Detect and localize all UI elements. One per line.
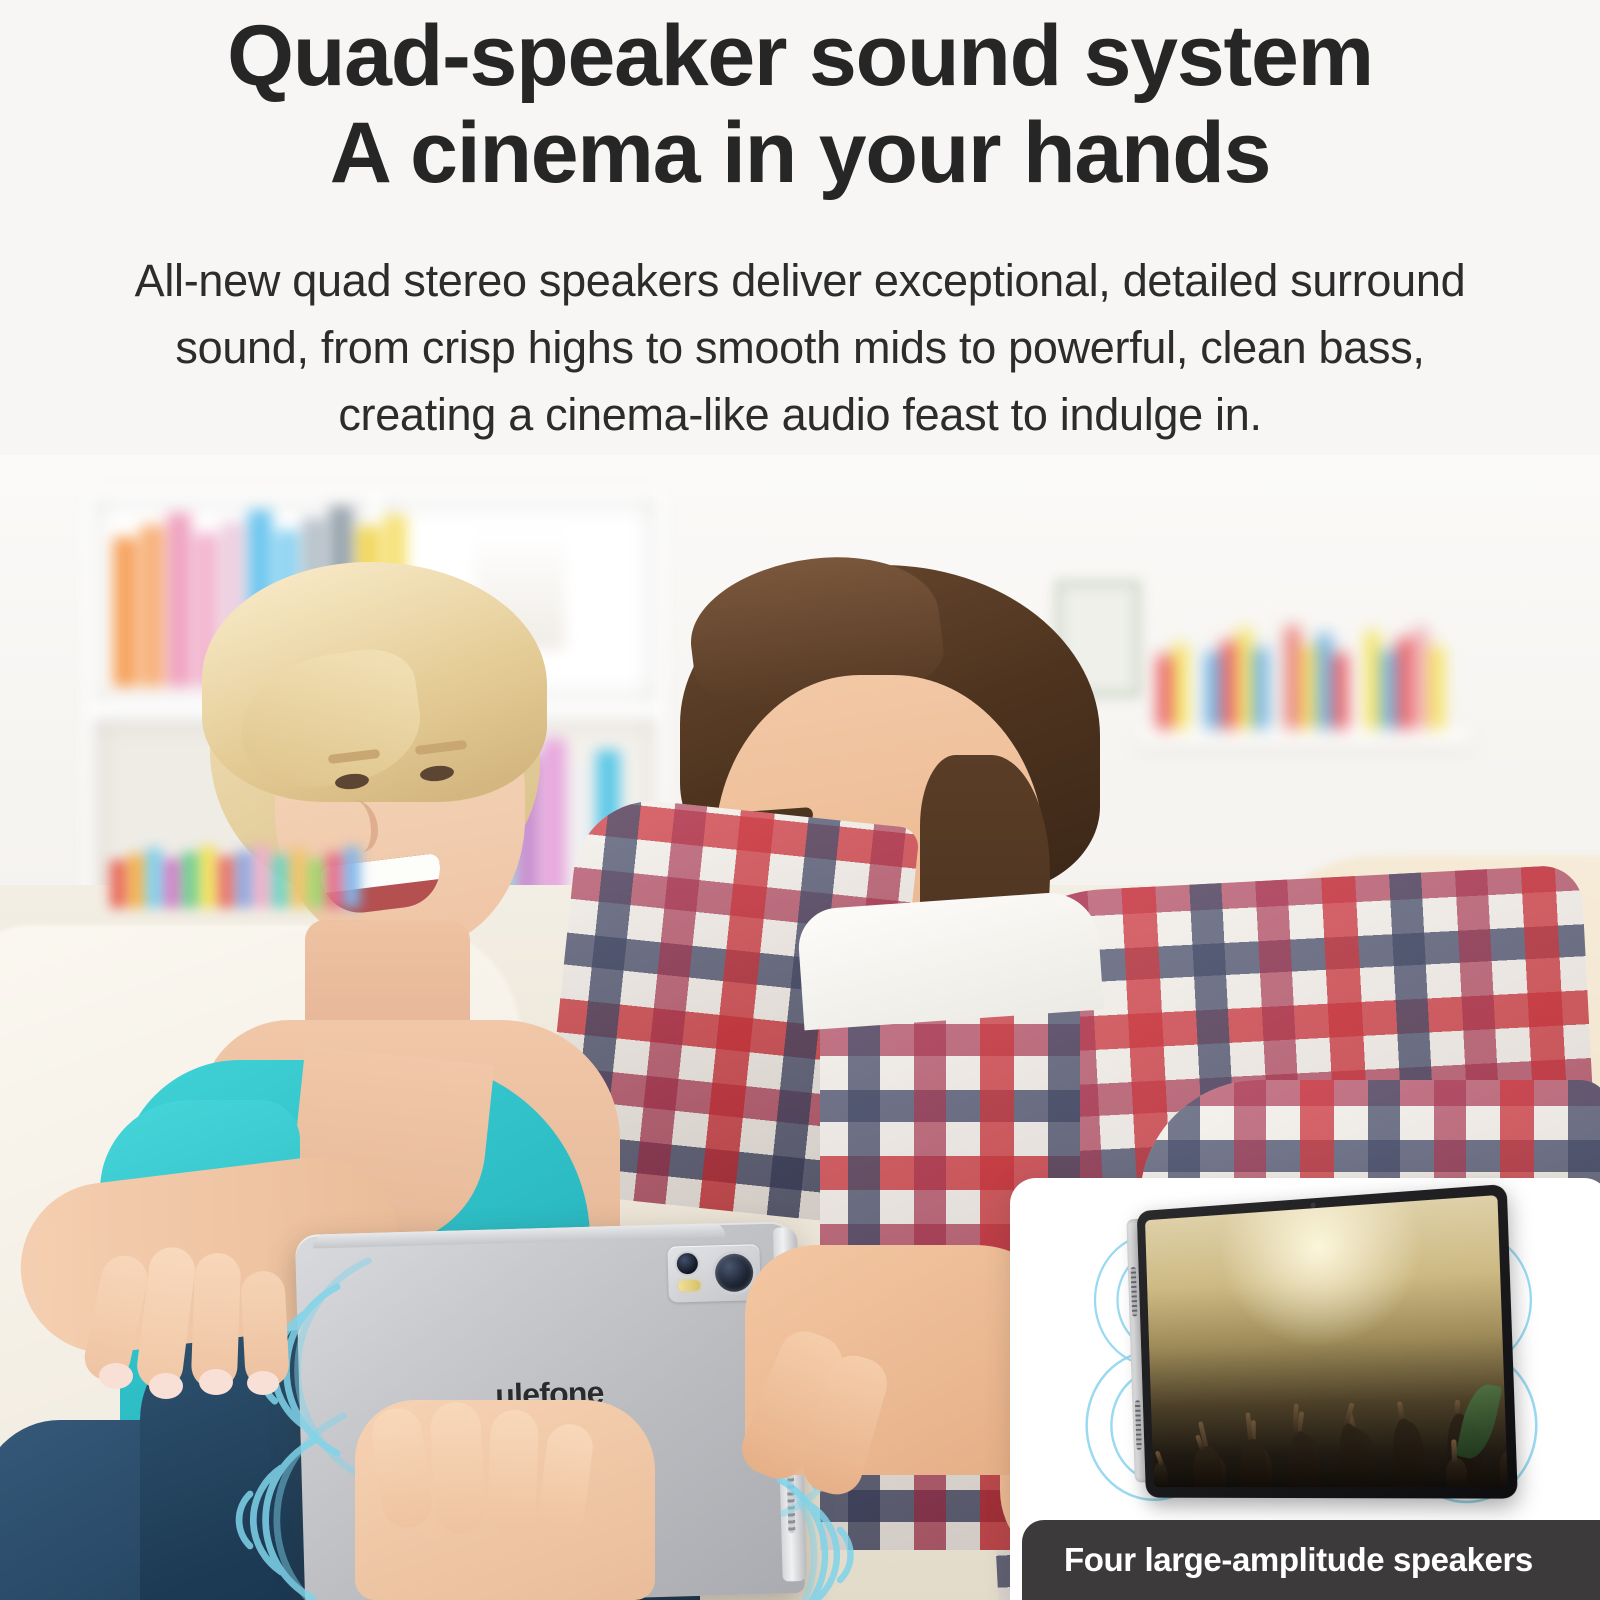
- inset-callout-card: Four large-amplitude speakers: [1010, 1178, 1600, 1600]
- headline-line-2: A cinema in your hands: [0, 105, 1600, 202]
- shirt-collar: [796, 890, 1104, 1031]
- books-low-row: [110, 845, 360, 908]
- copy-block: Quad-speaker sound system A cinema in yo…: [0, 0, 1600, 448]
- inset-screen-concert-image: [1145, 1195, 1508, 1487]
- camera-lens-secondary: [677, 1253, 699, 1275]
- camera-lens-main: [715, 1253, 754, 1292]
- headline-line-1: Quad-speaker sound system: [227, 8, 1373, 104]
- camera-flash-icon: [678, 1280, 700, 1292]
- woman-hand-right: [355, 1400, 655, 1600]
- inset-caption-bar: Four large-amplitude speakers: [1022, 1520, 1600, 1600]
- page-title: Quad-speaker sound system A cinema in yo…: [0, 0, 1600, 202]
- camera-module: [667, 1244, 761, 1303]
- inset-tablet-device: [1137, 1184, 1518, 1499]
- inset-caption-text: Four large-amplitude speakers: [1064, 1541, 1533, 1579]
- body-copy: All-new quad stereo speakers deliver exc…: [0, 248, 1600, 448]
- product-feature-poster: ulefone: [0, 0, 1600, 1600]
